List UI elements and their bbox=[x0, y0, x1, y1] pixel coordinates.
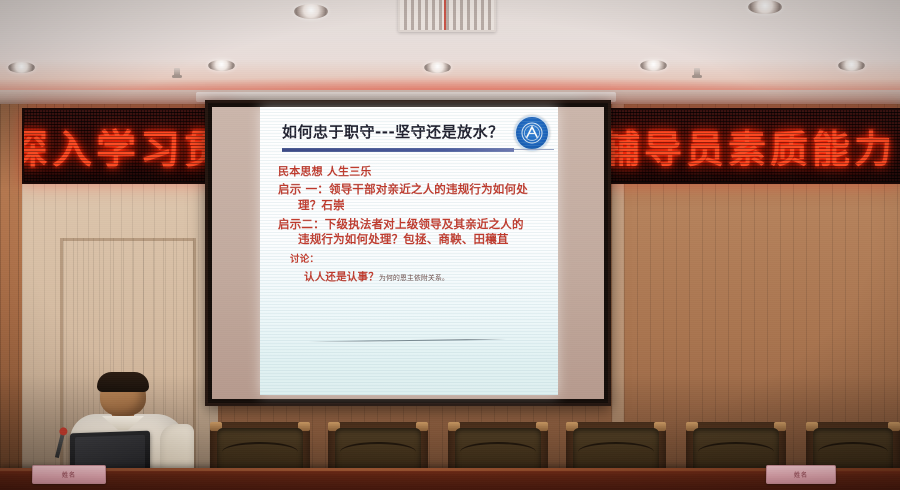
slide-title-underline-tail bbox=[514, 149, 554, 150]
downlight-icon bbox=[208, 60, 235, 71]
slide-line-3b: 违规行为如何处理？包拯、商鞅、田穰苴 bbox=[298, 232, 546, 247]
slide-line-3a: 启示二：下级执法者对上级领导及其亲近之人的 bbox=[278, 217, 546, 232]
nameplate: 姓名 bbox=[766, 465, 836, 484]
downlight-icon bbox=[294, 4, 328, 19]
table-edge bbox=[0, 468, 900, 471]
ceiling-air-vent-icon bbox=[398, 0, 496, 32]
downlight-icon bbox=[748, 0, 782, 14]
led-banner-left: 深入学习贯 bbox=[22, 108, 234, 184]
slide-line-1: 民本思想 人生三乐 bbox=[278, 165, 546, 179]
downlight-icon bbox=[838, 60, 865, 71]
led-banner-right: 辅导员素质能力 bbox=[586, 108, 900, 184]
speaker-person bbox=[64, 380, 192, 476]
slide-question-text: 认人还是认事？ bbox=[304, 271, 379, 283]
slide-title: 如何忠于职守---坚守还是放水？ bbox=[282, 121, 517, 142]
led-banner-left-text: 深入学习贯 bbox=[22, 117, 228, 175]
vent-indicator-line bbox=[444, 0, 446, 30]
slide-line-2a: 启示 一：领导干部对亲近之人的违规行为如何处 bbox=[278, 182, 546, 197]
nameplate-text: 姓名 bbox=[794, 470, 808, 479]
slide-title-underline bbox=[282, 148, 514, 152]
downlight-icon bbox=[640, 60, 667, 71]
conference-table bbox=[0, 468, 900, 490]
lecture-hall-scene: 深入学习贯 辅导员素质能力 如何忠于职守---坚守还是放水？ 民本思想 人生三乐 bbox=[0, 0, 900, 490]
university-emblem-icon bbox=[514, 115, 550, 151]
projected-slide: 如何忠于职守---坚守还是放水？ 民本思想 人生三乐 启示 一：领导干部对亲近之… bbox=[260, 107, 558, 395]
speaker-hair bbox=[97, 372, 149, 392]
nameplate: 姓名 bbox=[32, 465, 106, 484]
slide-line-2b: 理？石崇 bbox=[298, 198, 546, 213]
slide-body: 民本思想 人生三乐 启示 一：领导干部对亲近之人的违规行为如何处 理？石崇 启示… bbox=[278, 165, 546, 285]
slide-question-note: 为何的恩主依附关系。 bbox=[379, 274, 449, 282]
sprinkler-head-icon bbox=[174, 68, 180, 77]
downlight-icon bbox=[8, 62, 35, 73]
slide-discussion-question: 认人还是认事？为何的恩主依附关系。 bbox=[304, 271, 546, 284]
slide-discussion-label: 讨论： bbox=[290, 254, 546, 266]
nameplate-text: 姓名 bbox=[62, 470, 76, 479]
downlight-icon bbox=[424, 62, 451, 73]
sprinkler-head-icon bbox=[694, 68, 700, 77]
slide-bottom-rule bbox=[308, 339, 506, 342]
projection-screen: 如何忠于职守---坚守还是放水？ 民本思想 人生三乐 启示 一：领导干部对亲近之… bbox=[205, 100, 611, 406]
led-banner-right-text: 辅导员素质能力 bbox=[602, 119, 896, 174]
